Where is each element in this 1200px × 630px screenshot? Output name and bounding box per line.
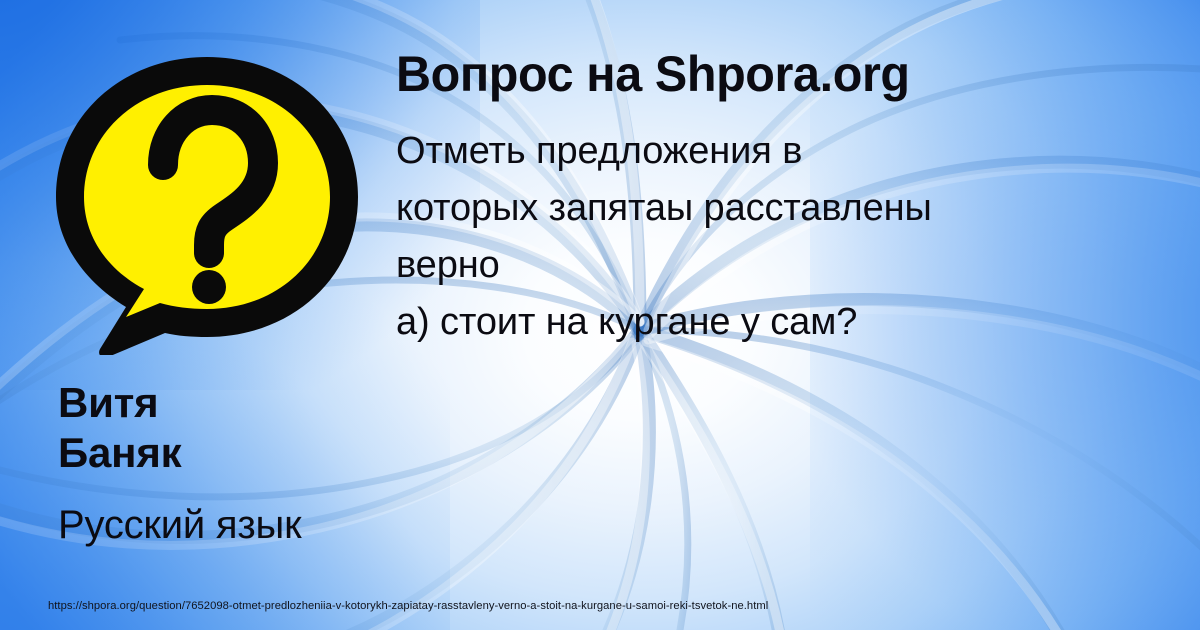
author-name-line-2: Баняк xyxy=(58,428,388,478)
question-speech-bubble-svg xyxy=(52,55,362,355)
question-text: Отметь предложения в которых запятаы рас… xyxy=(396,123,1196,351)
question-line-4: а) стоит на кургане у сам? xyxy=(396,294,1196,351)
question-speech-bubble-icon xyxy=(52,55,362,355)
author-block: Витя Баняк Русский язык xyxy=(58,378,388,547)
question-line-2: которых запятаы расставлены xyxy=(396,180,1196,237)
question-line-3: верно xyxy=(396,237,1196,294)
page-title: Вопрос на Shpora.org xyxy=(396,48,1172,101)
author-name-line-1: Витя xyxy=(58,378,388,428)
subject-label: Русский язык xyxy=(58,503,388,547)
question-share-card: Вопрос на Shpora.org Отметь предложения … xyxy=(0,0,1200,630)
question-mark-dot xyxy=(192,270,226,304)
source-url: https://shpora.org/question/7652098-otme… xyxy=(48,600,768,612)
question-content: Вопрос на Shpora.org Отметь предложения … xyxy=(396,48,1196,351)
question-line-1: Отметь предложения в xyxy=(396,123,1196,180)
author-name: Витя Баняк xyxy=(58,378,388,477)
